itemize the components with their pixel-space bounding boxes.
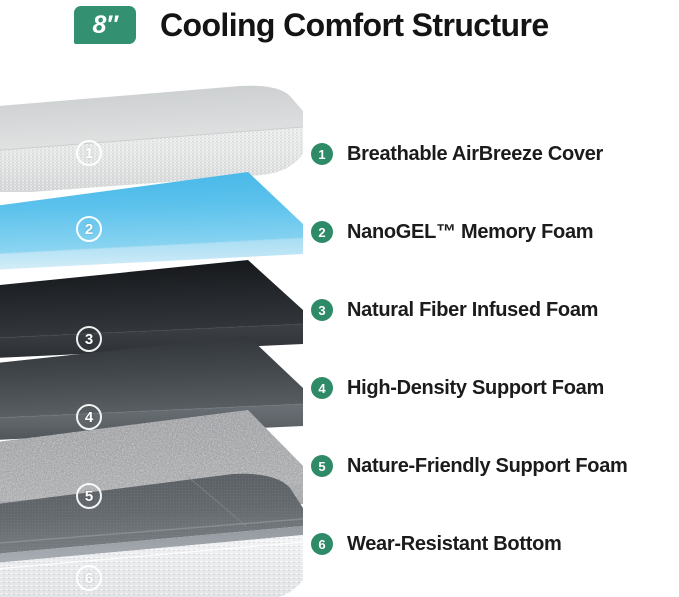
page-title: Cooling Comfort Structure	[160, 4, 549, 46]
layer-number-marker-1: 1	[76, 140, 102, 166]
legend-label-4: High-Density Support Foam	[347, 376, 604, 400]
legend-badge-6: 6	[311, 533, 333, 555]
legend-item-5[interactable]: 5 Nature-Friendly Support Foam	[311, 451, 628, 481]
legend-badge-1: 1	[311, 143, 333, 165]
legend-item-3[interactable]: 3 Natural Fiber Infused Foam	[311, 295, 598, 325]
layer-number-marker-6: 6	[76, 565, 102, 591]
layer-6-slab	[0, 472, 310, 597]
layer-number-marker-5: 5	[76, 483, 102, 509]
legend-label-6: Wear-Resistant Bottom	[347, 532, 561, 556]
legend-label-1: Breathable AirBreeze Cover	[347, 142, 603, 166]
legend-item-2[interactable]: 2 NanoGEL™ Memory Foam	[311, 217, 593, 247]
diagram-layer-6: 6	[0, 472, 310, 597]
mattress-layer-diagram: 1 2	[0, 60, 310, 587]
layer-number-marker-3: 3	[76, 326, 102, 352]
legend-label-5: Nature-Friendly Support Foam	[347, 454, 628, 478]
legend-label-2: NanoGEL™ Memory Foam	[347, 220, 593, 244]
legend-item-6[interactable]: 6 Wear-Resistant Bottom	[311, 529, 561, 559]
layer-legend: 1 Breathable AirBreeze Cover 2 NanoGEL™ …	[311, 60, 679, 587]
layer-number-marker-4: 4	[76, 404, 102, 430]
legend-label-3: Natural Fiber Infused Foam	[347, 298, 598, 322]
mattress-height-badge: 8″	[74, 6, 136, 44]
legend-badge-4: 4	[311, 377, 333, 399]
legend-item-4[interactable]: 4 High-Density Support Foam	[311, 373, 604, 403]
legend-item-1[interactable]: 1 Breathable AirBreeze Cover	[311, 139, 603, 169]
legend-badge-2: 2	[311, 221, 333, 243]
header: 8″ Cooling Comfort Structure	[0, 0, 679, 60]
mattress-height-label: 8″	[93, 13, 118, 38]
legend-badge-3: 3	[311, 299, 333, 321]
legend-badge-5: 5	[311, 455, 333, 477]
layer-number-marker-2: 2	[76, 216, 102, 242]
